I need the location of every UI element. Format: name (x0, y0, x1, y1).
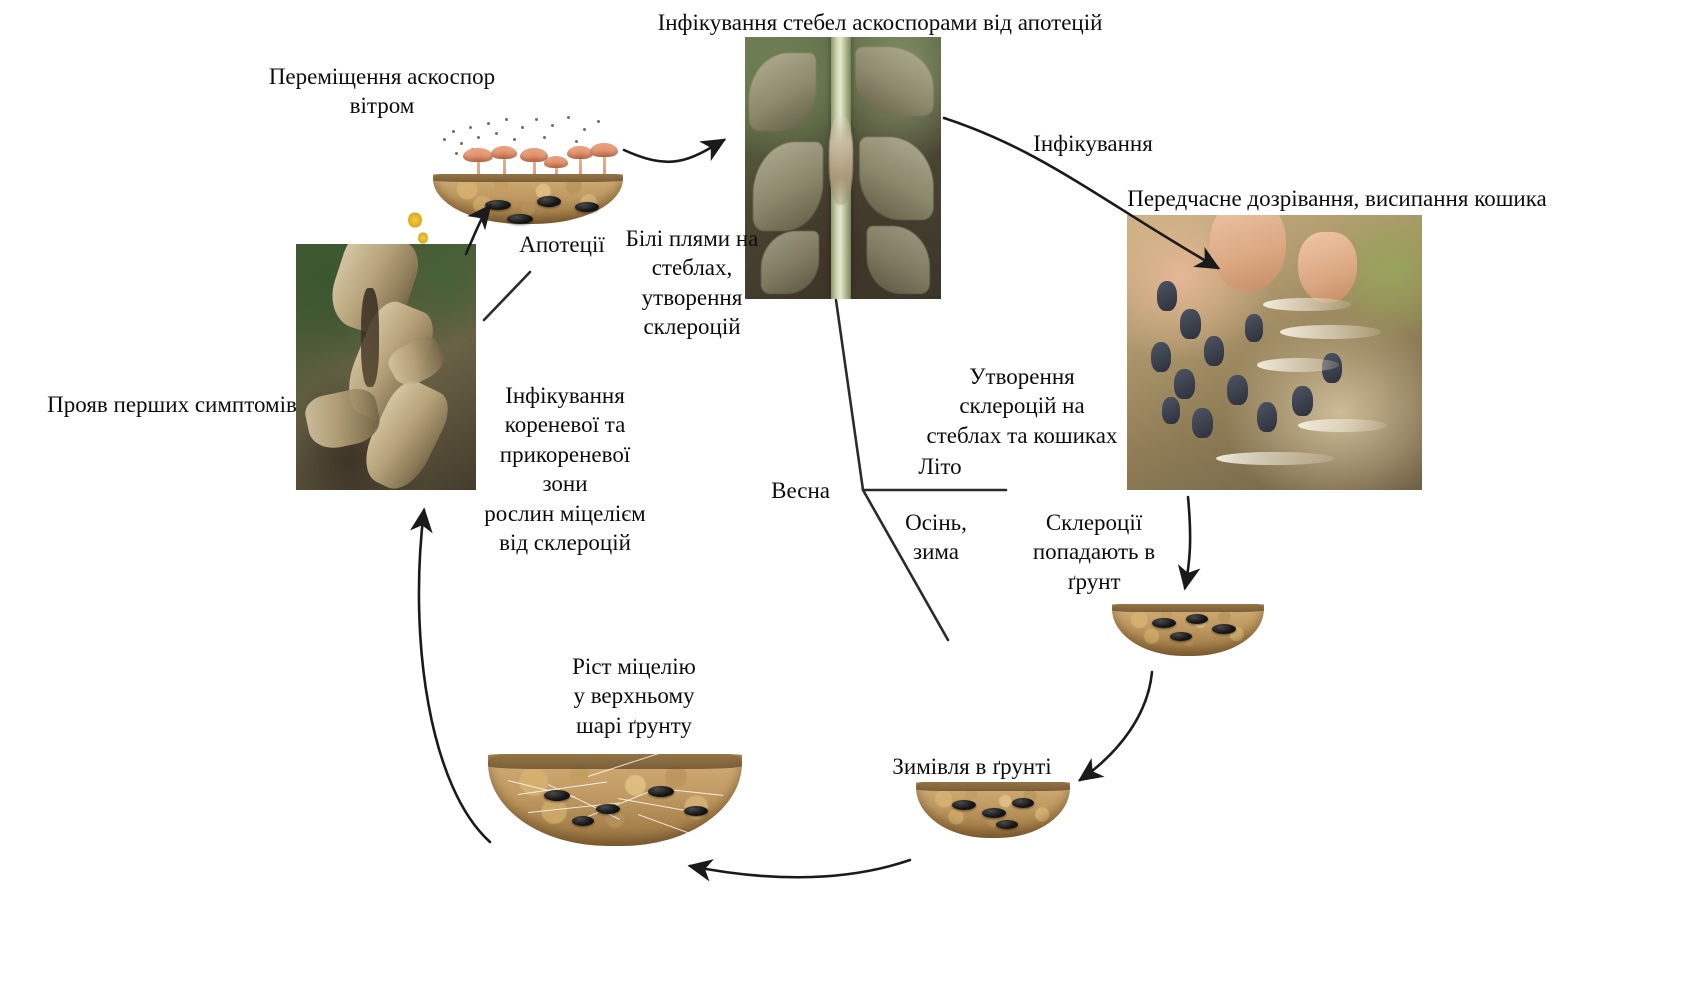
mycelium-growth-in-soil-illustration (480, 744, 750, 852)
stem-rot-symptoms-photo (296, 244, 476, 490)
label-mycelium-growth: Ріст міцелію у верхньому шарі ґрунту (532, 652, 736, 740)
label-white-spots: Білі плями на стеблах, утворення склероц… (608, 224, 776, 342)
arrow-apothecia-to-stem (624, 140, 724, 162)
leader-apothecia-label (484, 272, 530, 320)
label-overwintering: Зимівля в ґрунті (862, 752, 1082, 781)
label-wind-dispersal: Переміщення аскоспор вітром (232, 62, 532, 121)
rotted-sunflower-head-photo (1127, 215, 1422, 490)
label-summer: Літо (880, 452, 1000, 481)
arrow-overwinter-to-mycelium (690, 860, 910, 877)
label-autumn-winter: Осінь, зима (876, 508, 996, 567)
arrow-head-to-sclerotia (1185, 497, 1190, 588)
sclerotia-falling-to-soil-illustration (1108, 596, 1268, 662)
season-junction-line-spring (836, 300, 863, 490)
yellow-flower-speck-2 (418, 232, 428, 244)
apothecia-on-soil-illustration (425, 112, 625, 228)
label-stem-infection-title: Інфікування стебел аскоспорами від апоте… (600, 8, 1160, 37)
label-infection: Інфікування (998, 129, 1188, 158)
label-premature-ripening: Передчасне дозрівання, висипання кошика (1102, 184, 1572, 213)
label-sclerotia-to-soil: Склероції попадають в ґрунт (1004, 508, 1184, 596)
label-root-infection: Інфікування кореневої та прикореневої зо… (472, 381, 658, 558)
sclerotia-overwintering-illustration (910, 772, 1076, 846)
yellow-flower-speck (408, 212, 422, 228)
arrow-sclerotia-to-overwinter (1080, 672, 1152, 780)
label-sclerotia-formation: Утворення склероцій на стеблах та кошика… (910, 362, 1134, 450)
label-first-symptoms: Прояв перших симптомів (36, 390, 308, 419)
disease-cycle-diagram: Інфікування стебел аскоспорами від апоте… (0, 0, 1687, 995)
label-spring: Весна (700, 476, 830, 505)
